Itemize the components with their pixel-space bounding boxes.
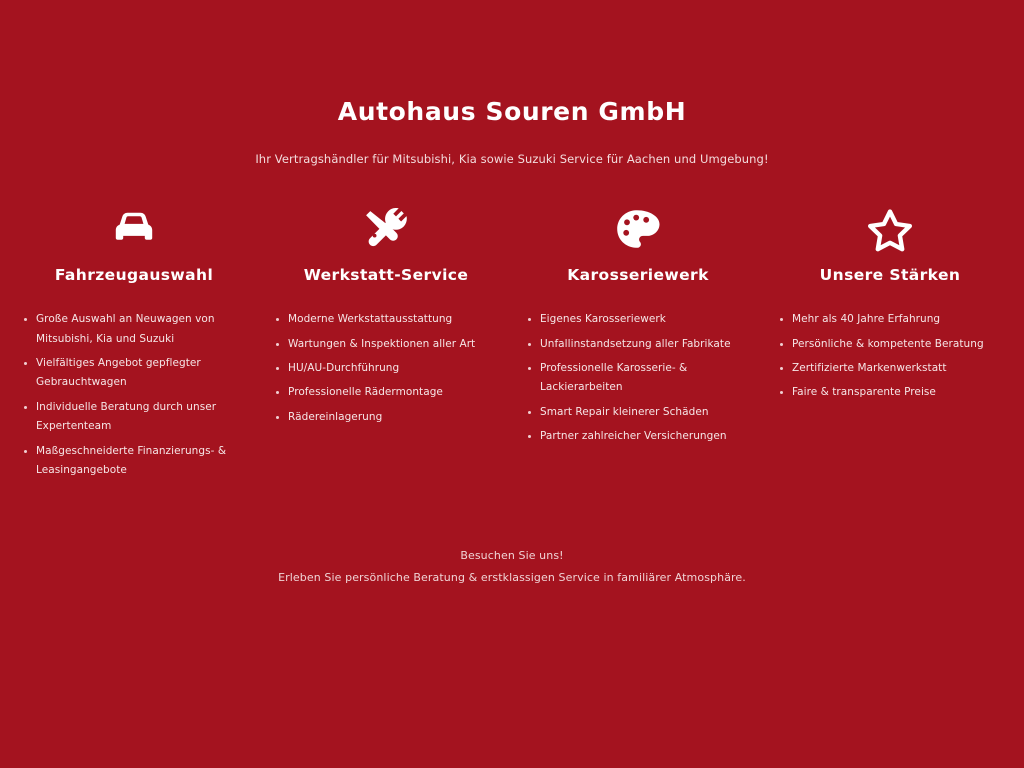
list-item: Maßgeschneiderte Finanzierungs- & Leasin…	[22, 442, 246, 481]
list-item: Mehr als 40 Jahre Erfahrung	[778, 310, 1002, 329]
feature-column-unsere-staerken: Unsere Stärken Mehr als 40 Jahre Erfahru…	[764, 204, 1016, 408]
tools-icon	[363, 204, 409, 256]
list-item: Persönliche & kompetente Beratung	[778, 335, 1002, 354]
star-icon	[867, 204, 913, 256]
list-item: Zertifizierte Markenwerkstatt	[778, 359, 1002, 378]
page-title: Autohaus Souren GmbH	[0, 98, 1024, 126]
page-footer: Besuchen Sie uns! Erleben Sie persönlich…	[0, 485, 1024, 588]
feature-column-title: Fahrzeugauswahl	[55, 266, 213, 285]
feature-column-title: Unsere Stärken	[820, 266, 961, 285]
feature-column-karosseriewerk: Karosseriewerk Eigenes Karosseriewerk Un…	[512, 204, 764, 452]
feature-column-title: Werkstatt-Service	[304, 266, 469, 285]
feature-columns: Fahrzeugauswahl Große Auswahl an Neuwage…	[0, 166, 1024, 486]
page-header: Autohaus Souren GmbH Ihr Vertragshändler…	[0, 0, 1024, 166]
page-subtitle: Ihr Vertragshändler für Mitsubishi, Kia …	[0, 126, 1024, 166]
feature-list: Moderne Werkstattausstattung Wartungen &…	[274, 310, 498, 432]
feature-list: Große Auswahl an Neuwagen von Mitsubishi…	[22, 310, 246, 485]
palette-icon	[616, 204, 660, 256]
list-item: Partner zahlreicher Versicherungen	[526, 427, 750, 446]
list-item: Vielfältiges Angebot gepflegter Gebrauch…	[22, 354, 246, 393]
list-item: Große Auswahl an Neuwagen von Mitsubishi…	[22, 310, 246, 349]
feature-column-werkstatt-service: Werkstatt-Service Moderne Werkstattausst…	[260, 204, 512, 433]
feature-list: Mehr als 40 Jahre Erfahrung Persönliche …	[778, 310, 1002, 408]
footer-description: Erleben Sie persönliche Beratung & erstk…	[0, 567, 1024, 588]
feature-column-fahrzeugauswahl: Fahrzeugauswahl Große Auswahl an Neuwage…	[8, 204, 260, 486]
feature-column-title: Karosseriewerk	[567, 266, 709, 285]
feature-list: Eigenes Karosseriewerk Unfallinstandsetz…	[526, 310, 750, 452]
list-item: Unfallinstandsetzung aller Fabrikate	[526, 335, 750, 354]
list-item: Professionelle Karosserie- & Lackierarbe…	[526, 359, 750, 398]
list-item: Professionelle Rädermontage	[274, 383, 498, 402]
list-item: Wartungen & Inspektionen aller Art	[274, 335, 498, 354]
list-item: Eigenes Karosseriewerk	[526, 310, 750, 329]
list-item: Faire & transparente Preise	[778, 383, 1002, 402]
car-icon	[110, 204, 158, 256]
list-item: Rädereinlagerung	[274, 408, 498, 427]
list-item: Individuelle Beratung durch unser Expert…	[22, 398, 246, 437]
list-item: HU/AU-Durchführung	[274, 359, 498, 378]
list-item: Smart Repair kleinerer Schäden	[526, 403, 750, 422]
footer-call-to-action: Besuchen Sie uns!	[0, 545, 1024, 566]
list-item: Moderne Werkstattausstattung	[274, 310, 498, 329]
page-root: Autohaus Souren GmbH Ihr Vertragshändler…	[0, 0, 1024, 768]
